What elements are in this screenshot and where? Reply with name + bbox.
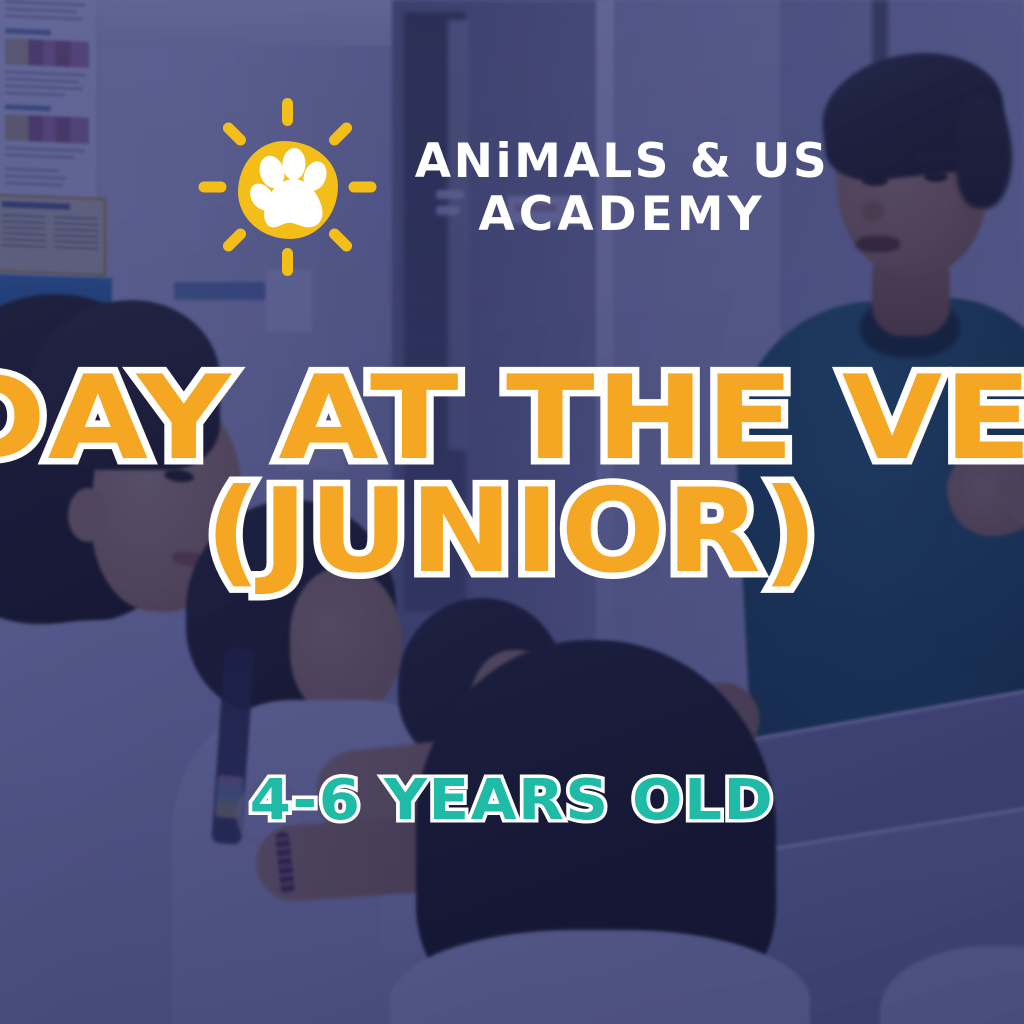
course-title: DAY AT THE VETS (JUNIOR) [0,366,1024,585]
course-promo-poster: ANiMALS & US ACADEMY DAY AT THE VETS (JU… [0,0,1024,1024]
poster-content: ANiMALS & US ACADEMY DAY AT THE VETS (JU… [0,0,1024,1024]
course-title-line1: DAY AT THE VETS [0,366,1024,473]
paw-print-icon [195,96,381,286]
course-title-line2: (JUNIOR) [0,479,1024,586]
brand-name-line1: ANiMALS & US [415,139,830,184]
brand-lockup: ANiMALS & US ACADEMY [0,96,1024,286]
sun-paw-icon [195,96,381,286]
brand-wordmark: ANiMALS & US ACADEMY [415,139,830,237]
age-range-label: 4-6 YEARS OLD [0,768,1024,833]
brand-name-line2: ACADEMY [415,192,830,237]
